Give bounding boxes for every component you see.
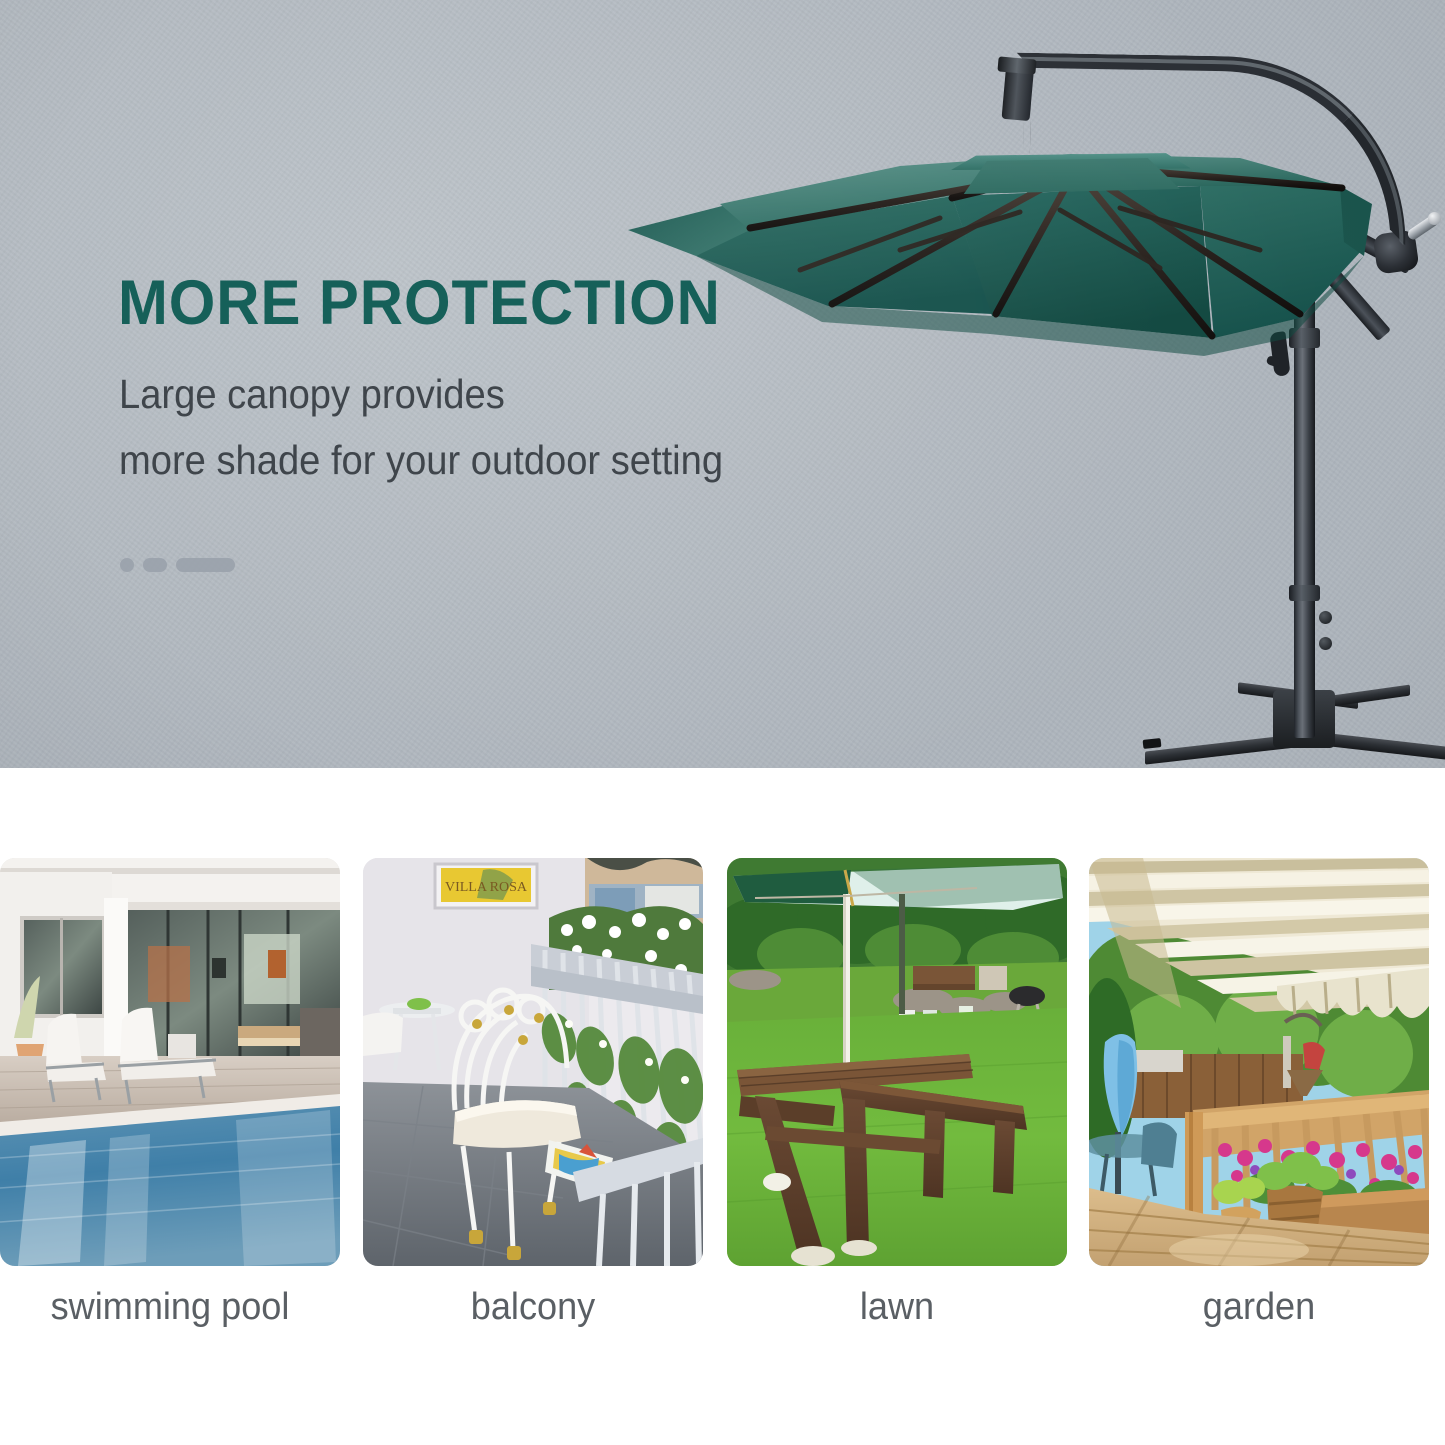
caption-garden: garden (1098, 1288, 1421, 1326)
lawn-scene (727, 858, 1067, 1266)
villa-rosa-sign-text: VILLA ROSA (445, 880, 528, 895)
caption-lawn: lawn (736, 1288, 1059, 1326)
pill-long (176, 558, 235, 572)
pole-button-upper (1319, 611, 1332, 624)
scenes-section: VILLA ROSA (0, 768, 1445, 1445)
thumbnail-lawn[interactable] (727, 858, 1067, 1266)
thumbnail-garden[interactable] (1089, 858, 1429, 1266)
garden-scene (1089, 858, 1429, 1266)
subtitle-line-1: Large canopy provides (119, 374, 505, 415)
balcony-scene: VILLA ROSA (363, 858, 703, 1266)
caption-swimming-pool: swimming pool (9, 1288, 332, 1326)
swimming-pool-scene (0, 858, 340, 1266)
pole-button-lower (1319, 637, 1332, 650)
pill-dot (120, 558, 134, 572)
caption-balcony: balcony (372, 1288, 695, 1326)
thumbnail-swimming-pool[interactable] (0, 858, 340, 1266)
product-banner: MORE PROTECTION Large canopy provides mo… (0, 0, 1445, 1445)
decorative-pills (120, 558, 235, 572)
thumbnail-balcony[interactable]: VILLA ROSA (363, 858, 703, 1266)
subtitle-line-2: more shade for your outdoor setting (119, 440, 723, 481)
pill-short (143, 558, 167, 572)
hero-section: MORE PROTECTION Large canopy provides mo… (0, 0, 1445, 768)
scene-thumbnails: VILLA ROSA (0, 858, 1445, 1268)
pole-joint-lower (1289, 585, 1320, 601)
page-title: MORE PROTECTION (118, 272, 721, 335)
crank-knob (1428, 212, 1441, 225)
umbrella-product-image (600, 40, 1445, 768)
arm-collar (997, 56, 1036, 74)
base-foot-left (1143, 738, 1162, 749)
